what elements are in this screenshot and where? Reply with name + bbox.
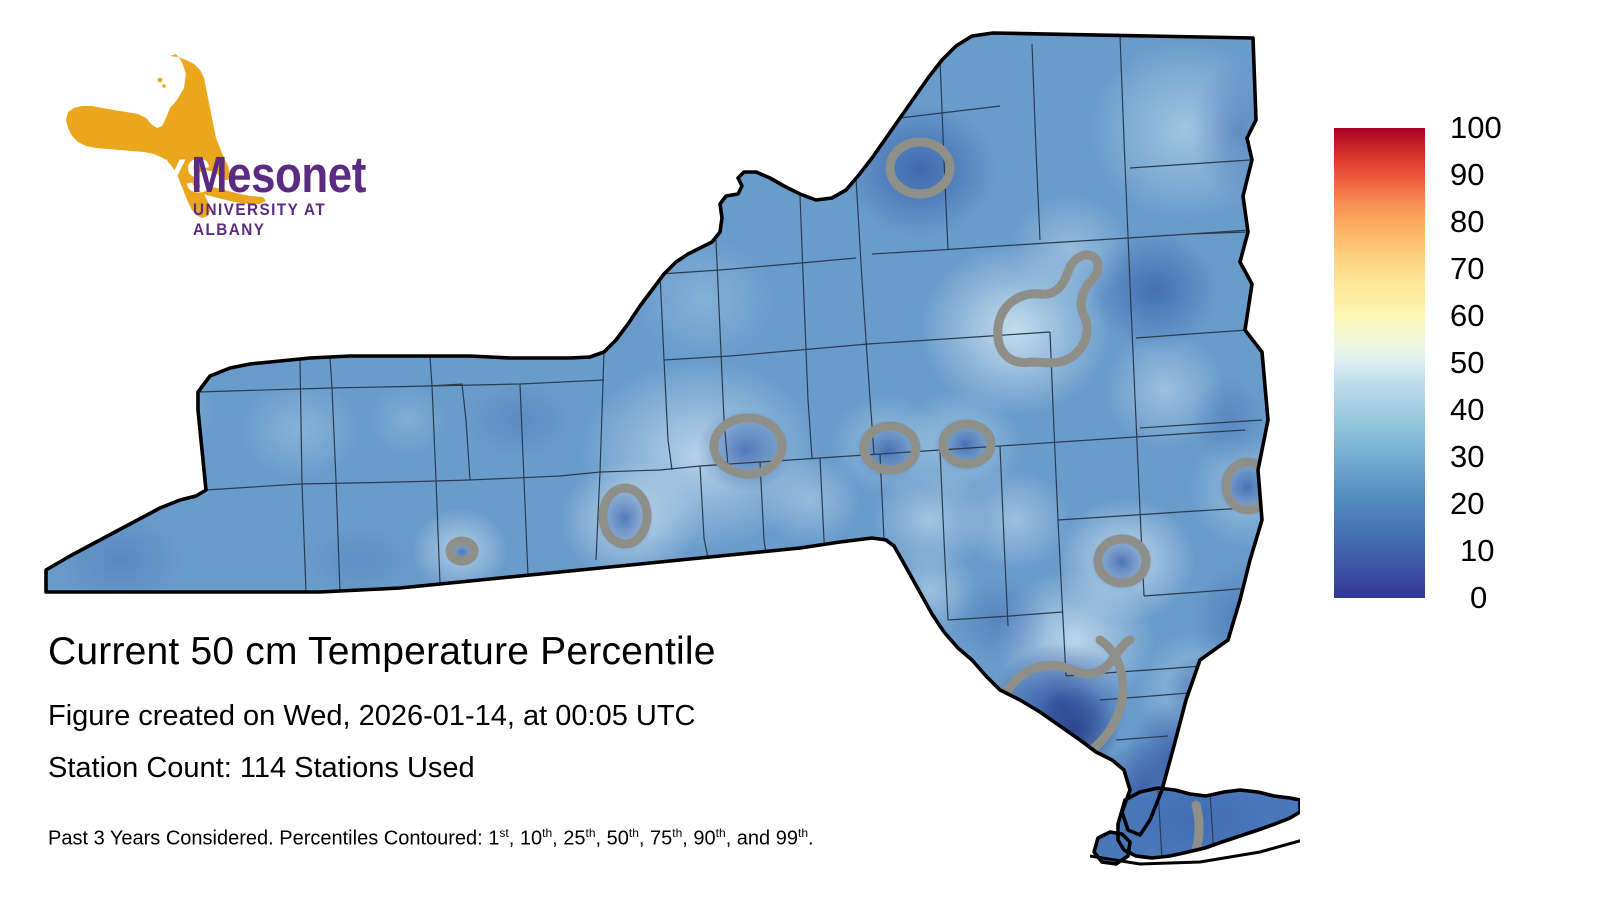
colorbar-tick-30: 30 bbox=[1450, 441, 1484, 472]
footnote-suffix-2: th bbox=[542, 826, 552, 840]
footnote-value-7: 99 bbox=[776, 828, 798, 850]
footnote-suffix-7: th bbox=[798, 826, 808, 840]
footnote-suffix-4: th bbox=[629, 826, 639, 840]
footnote-suffix-5: th bbox=[672, 826, 682, 840]
station-count-label: Station Count: 114 Stations Used bbox=[48, 752, 475, 785]
footnote-value-6: 90 bbox=[693, 828, 715, 850]
figure-created-timestamp: Figure created on Wed, 2026-01-14, at 00… bbox=[48, 700, 696, 733]
colorbar-tick-20: 20 bbox=[1450, 488, 1484, 519]
footnote-value-5: 75 bbox=[650, 828, 672, 850]
colorbar-tick-50: 50 bbox=[1450, 347, 1484, 378]
colorbar-tick-70: 70 bbox=[1450, 253, 1484, 284]
footnote-suffix-1: st bbox=[499, 826, 508, 840]
colorbar-tick-60: 60 bbox=[1450, 300, 1484, 331]
footnote-value-2: 10 bbox=[520, 828, 542, 850]
colorbar-tick-80: 80 bbox=[1450, 206, 1484, 237]
colorbar-tick-100: 100 bbox=[1450, 112, 1502, 143]
colorbar: 100 90 80 70 60 50 40 30 20 10 0 bbox=[1334, 128, 1584, 600]
footnote-tail: . bbox=[808, 828, 814, 850]
footnote-value-3: 25 bbox=[563, 828, 585, 850]
colorbar-tick-90: 90 bbox=[1450, 159, 1484, 190]
colorbar-tick-10: 10 bbox=[1460, 535, 1494, 566]
contour-footnote: Past 3 Years Considered. Percentiles Con… bbox=[48, 826, 814, 851]
footnote-lead: Past 3 Years Considered. Percentiles Con… bbox=[48, 828, 488, 850]
colorbar-tick-40: 40 bbox=[1450, 394, 1484, 425]
colorbar-tick-0: 0 bbox=[1470, 582, 1487, 613]
page-title: Current 50 cm Temperature Percentile bbox=[48, 630, 716, 674]
footnote-suffix-3: th bbox=[586, 826, 596, 840]
footnote-value-1: 1 bbox=[488, 828, 499, 850]
colorbar-gradient bbox=[1334, 128, 1425, 598]
figure-canvas: NYS Mesonet UNIVERSITY AT ALBANY bbox=[0, 0, 1600, 900]
footnote-value-4: 50 bbox=[607, 828, 629, 850]
footnote-suffix-6: th bbox=[716, 826, 726, 840]
